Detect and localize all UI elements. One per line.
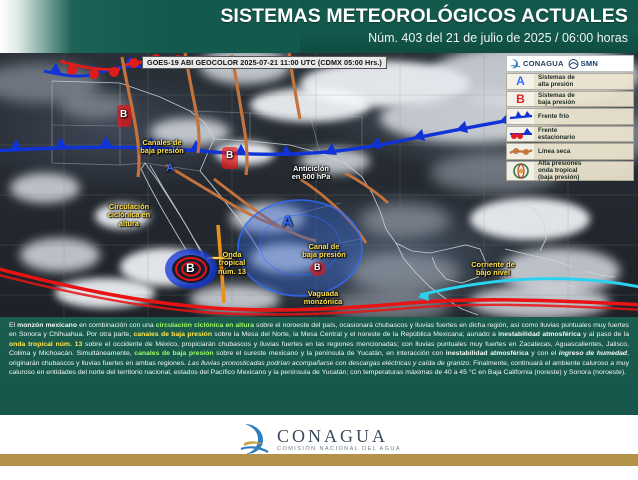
conagua-footer-text: CONAGUA COMISIÓN NACIONAL DEL AGUA bbox=[277, 427, 401, 453]
cold-front-main bbox=[0, 113, 540, 156]
dry-line-trough bbox=[122, 53, 300, 177]
smn-logo-text: SMN bbox=[581, 59, 598, 68]
pressure-center-A: A bbox=[282, 213, 293, 230]
high-pressure-letter: A bbox=[516, 74, 525, 88]
pressure-center-B: B bbox=[226, 150, 233, 161]
conagua-logo-text: CONAGUA bbox=[523, 59, 564, 68]
legend-item-label: Frente frío bbox=[534, 113, 569, 120]
legend-items: A Sistemas de alta presión B Sistemas de… bbox=[506, 73, 634, 181]
legend-item-label: Línea seca bbox=[534, 148, 570, 155]
stationary-front-icon bbox=[507, 127, 534, 142]
weather-discussion-text: El monzón mexicano en combinación con un… bbox=[0, 317, 638, 415]
page-title: SISTEMAS METEOROLÓGICOS ACTUALES bbox=[220, 5, 628, 28]
pressure-center-B: B bbox=[120, 109, 127, 120]
pressure-center-A: A bbox=[166, 162, 174, 174]
conagua-logo: CONAGUA bbox=[510, 58, 564, 70]
anticyclone-500hpa-ring bbox=[238, 200, 362, 296]
legend-item-label: Alta presiones onda tropical (baja presi… bbox=[534, 160, 581, 181]
legend-item-stationary-front[interactable]: Frente estacionario bbox=[506, 126, 634, 143]
conagua-emblem-icon bbox=[510, 58, 521, 70]
satellite-map[interactable]: GOES-19 ABI GEOCOLOR 2025-07-21 11:00 UT… bbox=[0, 53, 638, 317]
map-legend: CONAGUA SMN A Sistemas de alta presión bbox=[506, 55, 634, 182]
legend-item-label: Frente estacionario bbox=[534, 127, 575, 141]
low-level-jet bbox=[418, 279, 638, 301]
legend-item-tropical-wave[interactable]: Alta presiones onda tropical (baja presi… bbox=[506, 161, 634, 181]
low-pressure-letter: B bbox=[516, 92, 525, 106]
weather-bulletin-page: SISTEMAS METEOROLÓGICOS ACTUALES Núm. 40… bbox=[0, 0, 638, 480]
legend-logos: CONAGUA SMN bbox=[506, 55, 634, 72]
conagua-footer-main: CONAGUA bbox=[277, 427, 401, 445]
dry-line-icon bbox=[507, 144, 534, 159]
smn-logo: SMN bbox=[568, 58, 598, 70]
legend-item-label: Sistemas de alta presión bbox=[534, 74, 575, 88]
legend-item-high-pressure[interactable]: A Sistemas de alta presión bbox=[506, 73, 634, 90]
page-subtitle: Núm. 403 del 21 de julio de 2025 / 06:00… bbox=[368, 31, 628, 45]
low-marker-stack bbox=[117, 105, 238, 169]
pressure-center-B: B bbox=[314, 262, 321, 272]
page-header: SISTEMAS METEOROLÓGICOS ACTUALES Núm. 40… bbox=[0, 0, 638, 53]
high-pressure-icon: A bbox=[507, 74, 534, 89]
tropical-wave-icon bbox=[507, 162, 534, 180]
legend-item-label: Sistemas de baja presión bbox=[534, 92, 575, 106]
page-footer: CONAGUA COMISIÓN NACIONAL DEL AGUA bbox=[0, 415, 638, 480]
legend-item-low-pressure[interactable]: B Sistemas de baja presión bbox=[506, 91, 634, 108]
footer-gold-bar bbox=[0, 454, 638, 466]
legend-item-cold-front[interactable]: Frente frío bbox=[506, 108, 634, 125]
conagua-footer-sub: COMISIÓN NACIONAL DEL AGUA bbox=[277, 447, 401, 453]
discussion-paragraph: El monzón mexicano en combinación con un… bbox=[9, 321, 629, 378]
pressure-center-B: B bbox=[186, 261, 195, 275]
smn-emblem-icon bbox=[568, 58, 579, 70]
legend-item-dry-line[interactable]: Línea seca bbox=[506, 143, 634, 160]
low-pressure-icon: B bbox=[507, 92, 534, 107]
satellite-timestamp: GOES-19 ABI GEOCOLOR 2025-07-21 11:00 UT… bbox=[142, 56, 387, 69]
cold-front-icon bbox=[507, 109, 534, 124]
